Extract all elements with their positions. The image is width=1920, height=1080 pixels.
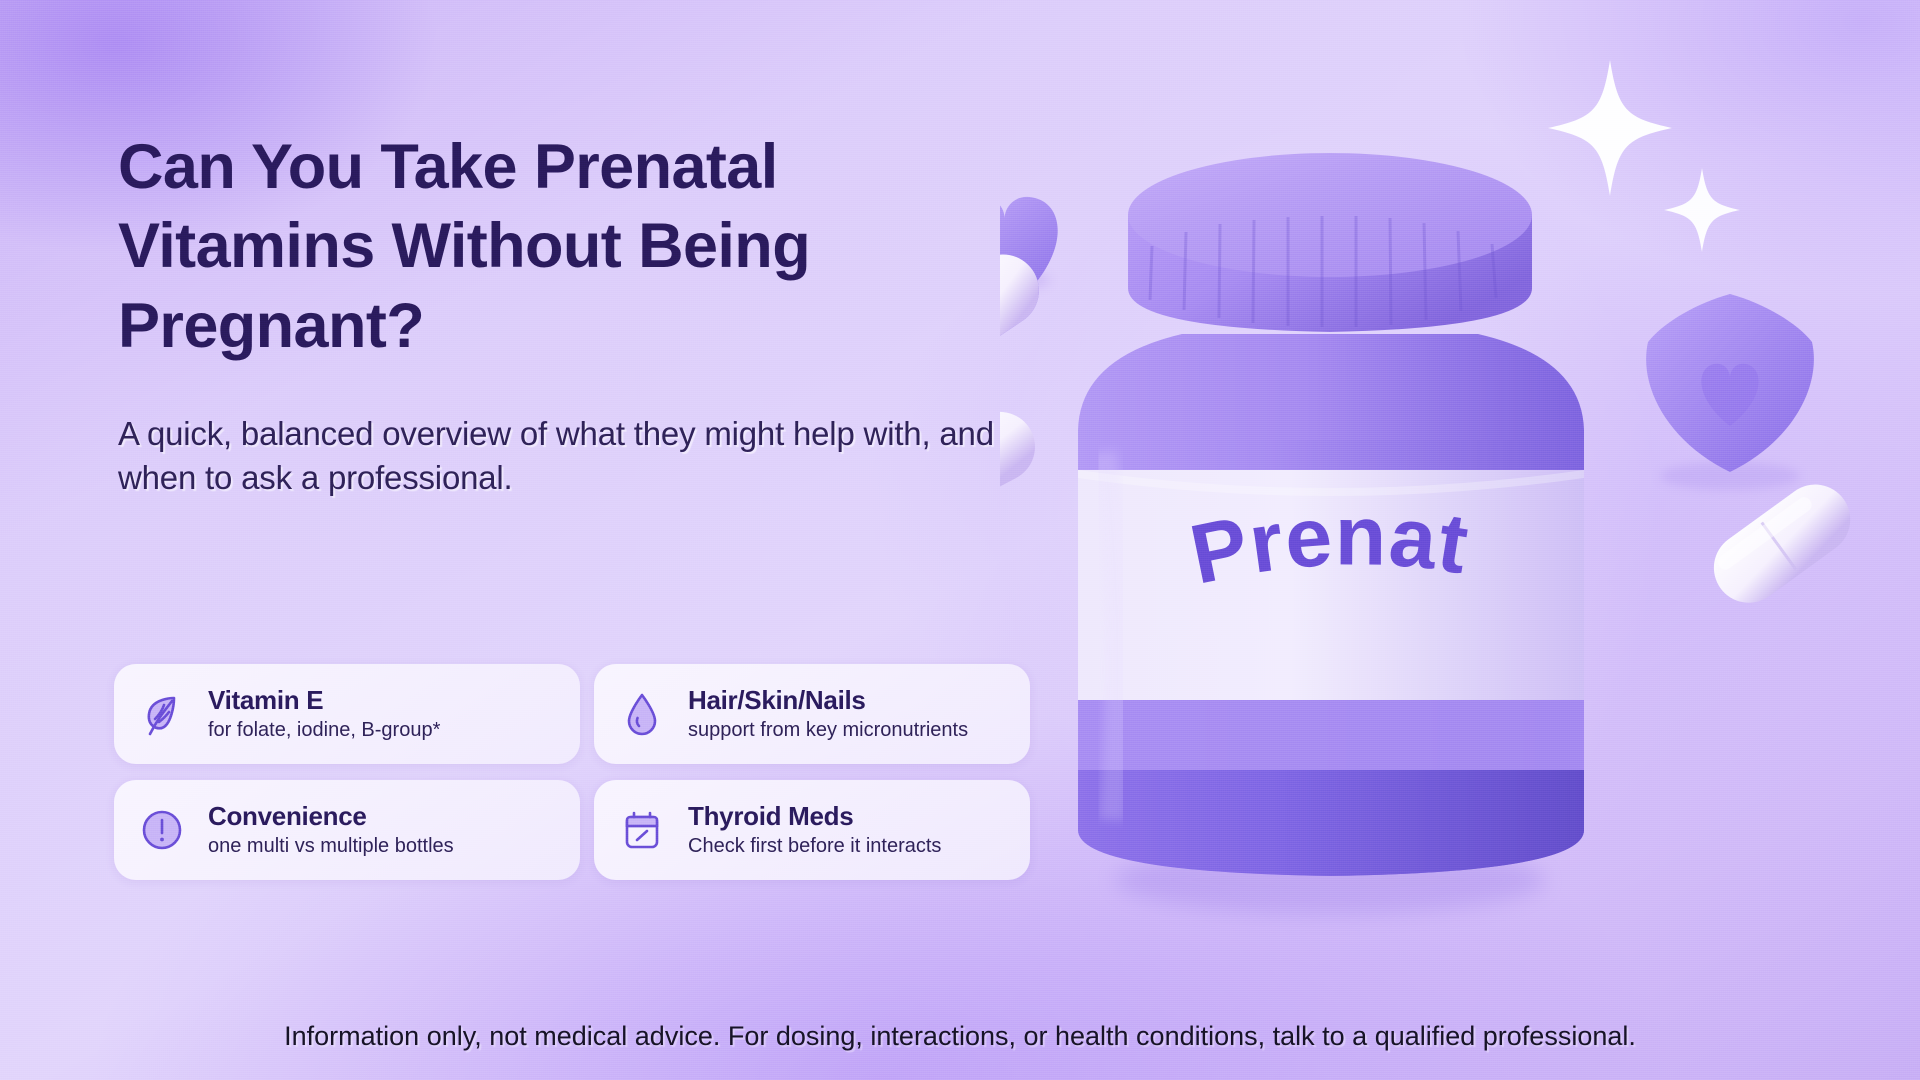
benefit-card-title: Thyroid Meds	[688, 802, 941, 832]
sparkle-small	[1664, 168, 1740, 252]
benefit-card-vitamin-e[interactable]: Vitamin E for folate, iodine, B-group*	[114, 664, 580, 764]
benefit-card-desc: one multi vs multiple bottles	[208, 834, 454, 858]
sparkle-large	[1548, 60, 1672, 196]
benefit-card-convenience[interactable]: Convenience one multi vs multiple bottle…	[114, 780, 580, 880]
infographic-canvas: Prenatal	[0, 0, 1920, 1080]
leaf-icon	[136, 688, 188, 740]
benefit-card-desc: for folate, iodine, B-group*	[208, 718, 440, 742]
benefit-card-title: Hair/Skin/Nails	[688, 686, 968, 716]
disclaimer-text: Information only, not medical advice. Fo…	[0, 1018, 1920, 1054]
bottle-label	[1078, 470, 1584, 700]
bottle-cap	[1128, 153, 1532, 332]
supplement-illustration: Prenatal	[1000, 0, 1920, 1080]
benefit-card-hair-skin-nails[interactable]: Hair/Skin/Nails support from key micronu…	[594, 664, 1030, 764]
page-title: Can You Take Prenatal Vitamins Without B…	[118, 128, 948, 366]
capsule-white-right	[1700, 471, 1864, 617]
droplet-icon	[616, 688, 668, 740]
shield-with-heart	[1646, 294, 1814, 490]
calendar-icon	[616, 804, 668, 856]
benefit-card-desc: Check first before it interacts	[688, 834, 941, 858]
benefit-card-title: Vitamin E	[208, 686, 440, 716]
exclamation-circle-icon	[136, 804, 188, 856]
bottle-base	[1078, 770, 1584, 876]
benefit-card-thyroid-meds[interactable]: Thyroid Meds Check first before it inter…	[594, 780, 1030, 880]
benefit-card-title: Convenience	[208, 802, 454, 832]
text-column: Can You Take Prenatal Vitamins Without B…	[118, 128, 1058, 501]
page-subtitle: A quick, balanced overview of what they …	[118, 412, 998, 500]
benefit-card-grid: Vitamin E for folate, iodine, B-group* H…	[114, 664, 1044, 880]
benefit-card-desc: support from key micronutrients	[688, 718, 968, 742]
